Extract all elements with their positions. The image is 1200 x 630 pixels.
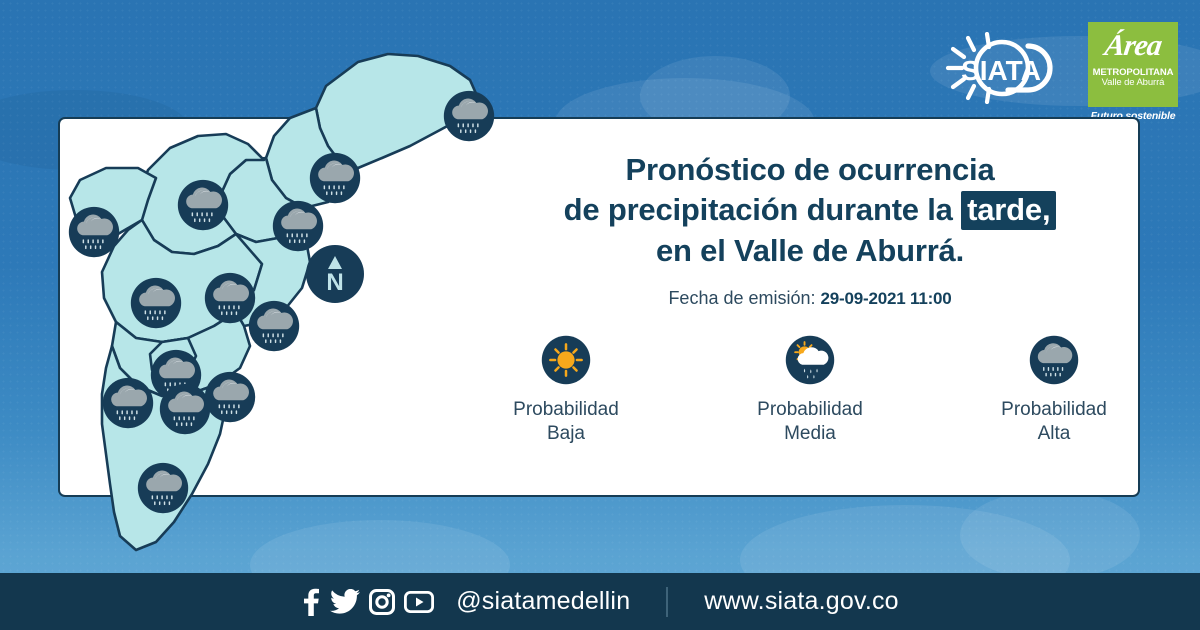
emission-date-label: Fecha de emisión: xyxy=(668,288,815,308)
legend-label-baja-line2: Baja xyxy=(513,422,619,446)
instagram-icon[interactable] xyxy=(369,589,395,615)
area-metropolitana-logo[interactable]: Área METROPOLITANA Valle de Aburrá Futur… xyxy=(1088,22,1178,122)
legend-label-media: Probabilidad Media xyxy=(757,398,863,447)
emission-date: Fecha de emisión: 29-09-2021 11:00 xyxy=(480,288,1140,309)
title-line-3: en el Valle de Aburrá. xyxy=(480,231,1140,271)
legend-item-media[interactable]: Probabilidad Media xyxy=(730,335,890,447)
legend-label-baja-line1: Probabilidad xyxy=(513,398,619,422)
emission-date-value: 29-09-2021 11:00 xyxy=(821,289,952,308)
sun-icon xyxy=(541,335,591,385)
siata-logo[interactable]: SIATA xyxy=(942,32,1072,104)
social-handle[interactable]: @siatamedellin xyxy=(456,587,630,616)
forecast-content: Pronóstico de ocurrencia de precipitació… xyxy=(480,150,1140,447)
siata-sun-cloud-icon: SIATA xyxy=(942,32,1072,104)
title-line-2-prefix: de precipitación durante la xyxy=(564,192,962,227)
logo-group: SIATA Área METROPOLITANA Valle de Aburrá… xyxy=(942,22,1178,122)
legend-label-media-line2: Media xyxy=(757,422,863,446)
background-cloud-6 xyxy=(960,490,1140,580)
area-subtitle-valle: Valle de Aburrá xyxy=(1102,78,1165,88)
twitter-icon[interactable] xyxy=(330,589,360,615)
footer-divider xyxy=(666,587,668,617)
website-url[interactable]: www.siata.gov.co xyxy=(704,587,898,616)
legend-item-alta[interactable]: Probabilidad Alta xyxy=(974,335,1134,447)
area-logo-box: Área METROPOLITANA Valle de Aburrá xyxy=(1088,22,1178,107)
sun-cloud-rain-icon xyxy=(785,335,835,385)
footer-content: @siatamedellin www.siata.gov.co xyxy=(301,587,899,617)
social-icons xyxy=(301,588,434,616)
legend-item-baja[interactable]: Probabilidad Baja xyxy=(486,335,646,447)
title-highlight-tarde: tarde, xyxy=(961,191,1056,230)
youtube-icon[interactable] xyxy=(404,591,434,613)
legend-label-baja: Probabilidad Baja xyxy=(513,398,619,447)
footer-bar: @siatamedellin www.siata.gov.co xyxy=(0,573,1200,630)
siata-wordmark: SIATA xyxy=(961,55,1041,86)
legend-label-media-line1: Probabilidad xyxy=(757,398,863,422)
probability-legend: Probabilidad Baja xyxy=(480,335,1140,447)
facebook-icon[interactable] xyxy=(301,588,321,616)
title-line-2: de precipitación durante la tarde, xyxy=(480,190,1140,230)
page-title: Pronóstico de ocurrencia de precipitació… xyxy=(480,150,1140,271)
area-wordmark: Área xyxy=(1103,31,1163,61)
legend-label-alta-line1: Probabilidad xyxy=(1001,398,1107,422)
legend-label-alta: Probabilidad Alta xyxy=(1001,398,1107,447)
infographic-root: SIATA Área METROPOLITANA Valle de Aburrá… xyxy=(0,0,1200,630)
cloud-rain-icon xyxy=(1029,335,1079,385)
title-line-1: Pronóstico de ocurrencia xyxy=(480,150,1140,190)
legend-label-alta-line2: Alta xyxy=(1001,422,1107,446)
